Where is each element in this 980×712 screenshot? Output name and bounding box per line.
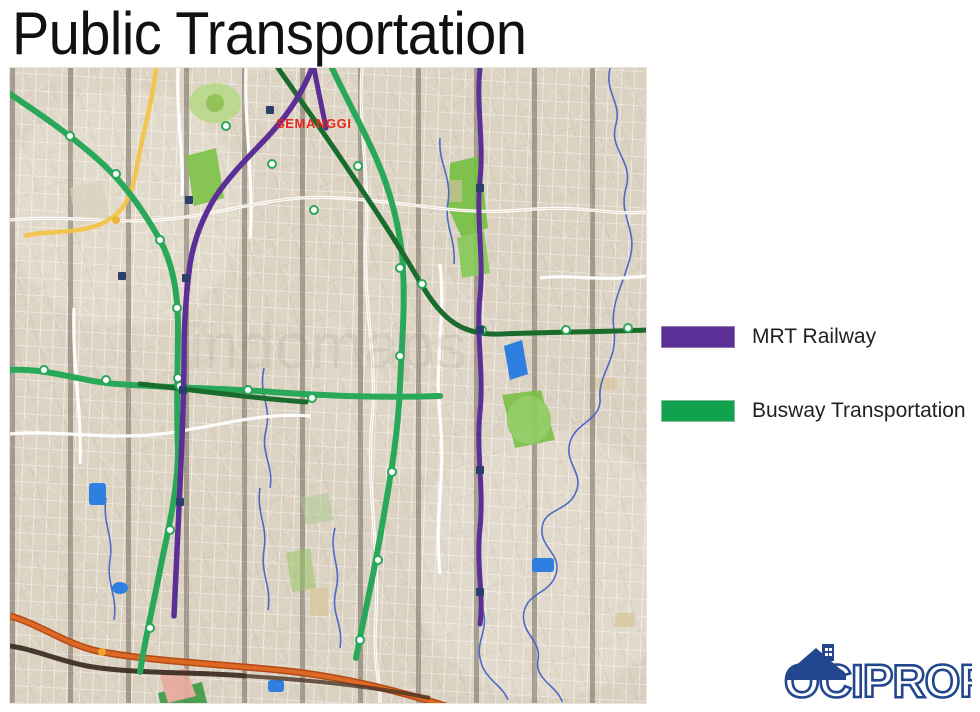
map-place-label-semanggi: SEMANGGI — [276, 116, 352, 131]
ociprop-logo[interactable]: OCIPROP — [782, 640, 972, 702]
legend-label-busway: Busway Transportation — [752, 399, 966, 423]
slide-canvas: Public Transportation — [0, 0, 980, 712]
map-watermark: indomaps — [189, 310, 467, 382]
legend-label-mrt: MRT Railway — [752, 325, 876, 349]
map-vector-layer: indomaps SEMANGGI — [10, 68, 646, 703]
legend-item-mrt-railway[interactable]: MRT Railway — [662, 300, 972, 374]
legend-swatch-busway-icon — [662, 401, 734, 421]
ociprop-wordmark: OCIPROP — [784, 655, 972, 702]
legend-swatch-mrt-icon — [662, 327, 734, 347]
ociprop-logo-mark: OCIPROP — [782, 640, 972, 702]
map-legend: MRT Railway Busway Transportation — [662, 300, 972, 448]
transport-map[interactable]: indomaps SEMANGGI — [10, 68, 646, 703]
legend-item-busway-transportation[interactable]: Busway Transportation — [662, 374, 972, 448]
map-toll-road — [10, 616, 646, 703]
page-title: Public Transportation — [12, 2, 526, 66]
